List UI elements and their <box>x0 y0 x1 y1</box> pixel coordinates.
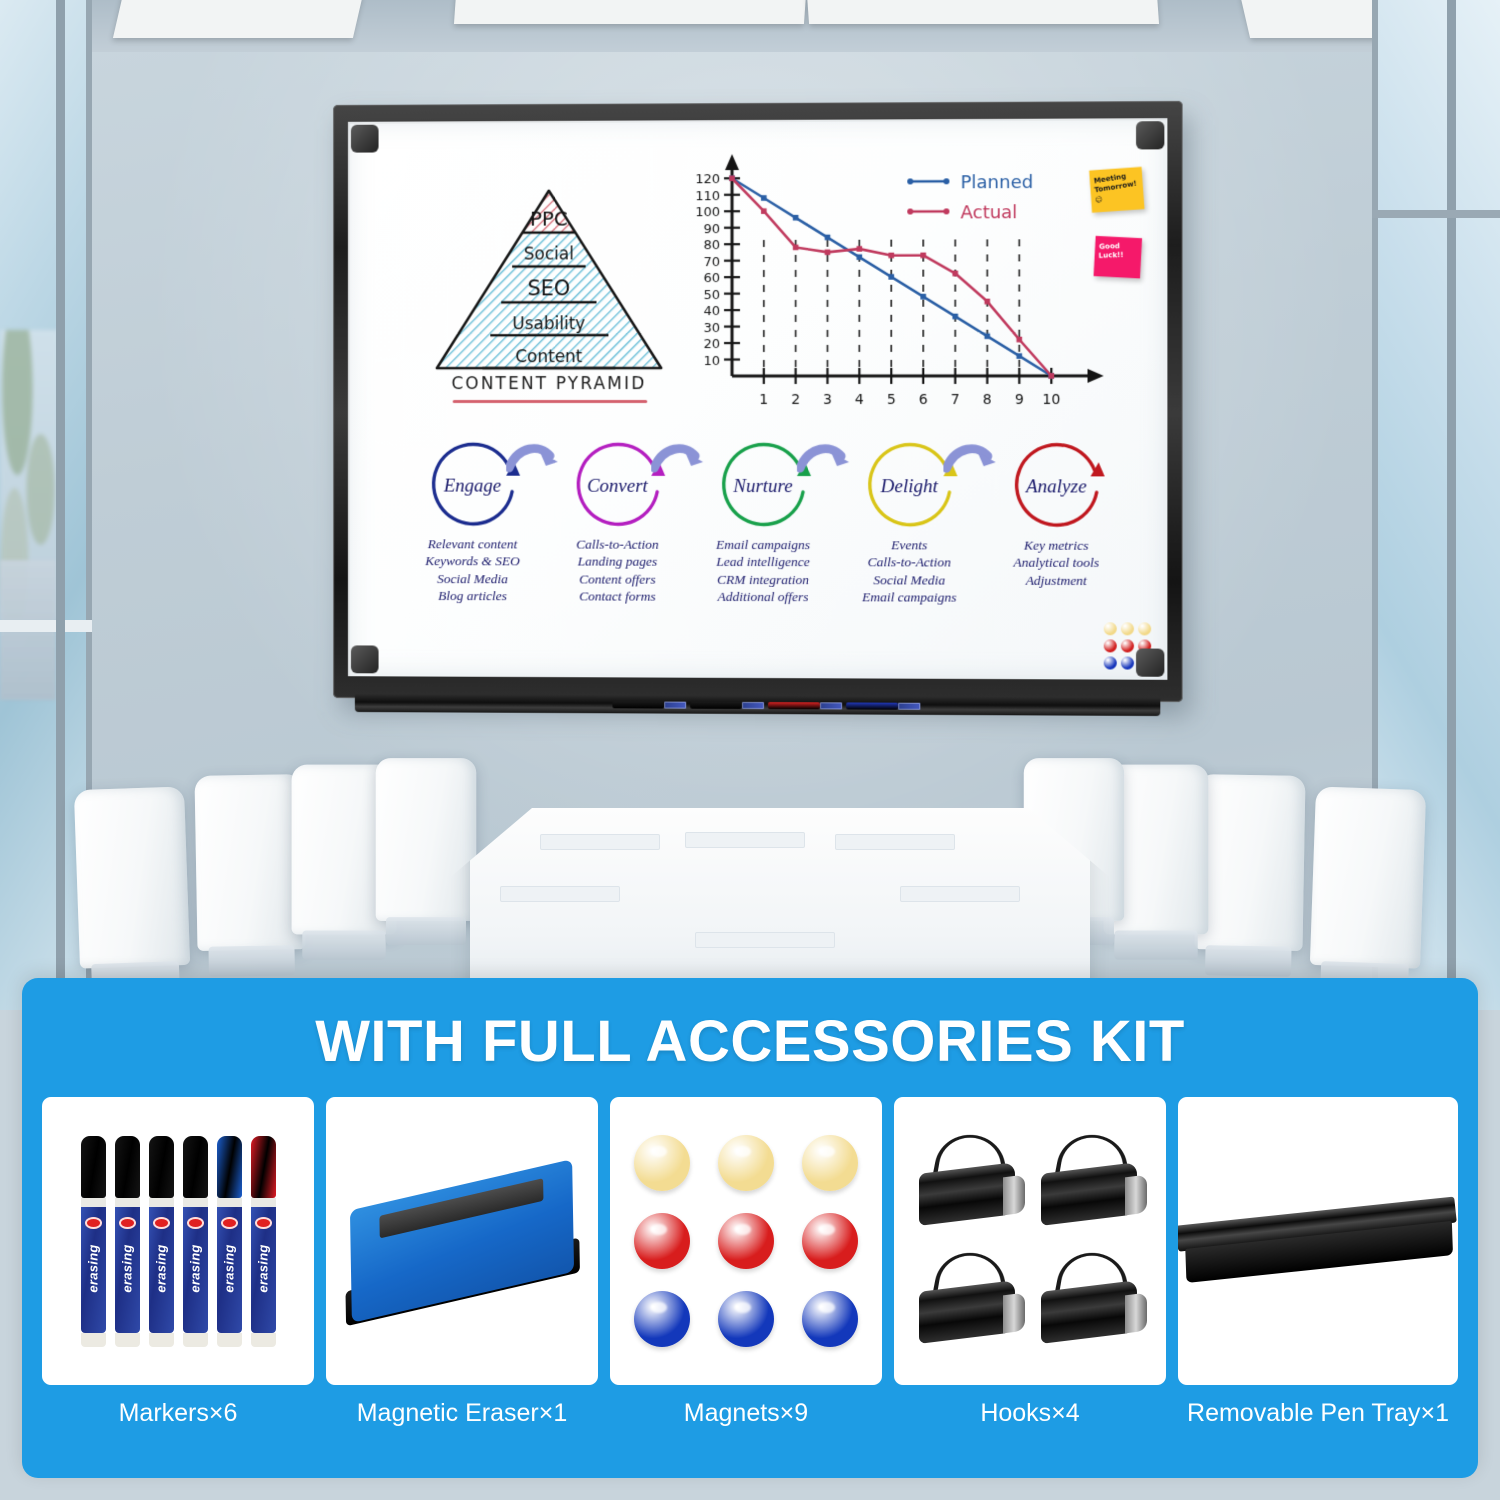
marker-body <box>217 1207 242 1333</box>
accessory-card-magnets[interactable]: Magnets×9 <box>610 1097 882 1428</box>
funnel-stage: AnalyzeKey metricsAnalytical toolsAdjust… <box>990 440 1123 589</box>
chart-x-tick-label: 8 <box>983 392 992 408</box>
chart-data-point <box>857 246 863 252</box>
whiteboard-surface[interactable]: PPC Social SEO Usability Content CONTENT… <box>348 118 1167 680</box>
funnel-stage-label: Convert <box>564 476 671 498</box>
chart-x-tick-label: 1 <box>759 392 768 408</box>
board-magnet[interactable] <box>1104 639 1117 652</box>
accessories-row: Markers×6 Magnetic Eraser×1 Magnets×9 <box>22 1075 1478 1428</box>
chart-data-point <box>857 254 863 260</box>
marker-collar <box>81 1198 106 1207</box>
pyramid-level-label: Content <box>515 346 582 366</box>
chart-x-tick-label: 10 <box>1042 392 1060 408</box>
marker <box>115 1136 140 1347</box>
window-mullion <box>1447 0 1456 1010</box>
marker-body <box>149 1207 174 1333</box>
accessory-card-hooks[interactable]: Hooks×4 <box>894 1097 1166 1428</box>
whiteboard-frame: PPC Social SEO Usability Content CONTENT… <box>333 101 1182 702</box>
board-magnet[interactable] <box>1121 622 1134 635</box>
sticky-note-goodluck[interactable]: Good Luck!! <box>1094 236 1143 278</box>
pen-tray-photo <box>1178 1097 1458 1385</box>
pyramid-level-label: SEO <box>527 276 570 300</box>
chart-data-point <box>729 176 735 182</box>
eraser-photo <box>326 1097 598 1385</box>
magnetic-eraser <box>350 1159 574 1323</box>
sticky-line-2: Luck!! <box>1099 251 1138 262</box>
hook-body <box>1041 1280 1137 1344</box>
chart-y-tick-label: 80 <box>704 238 720 253</box>
chart-data-point <box>984 333 990 339</box>
chart-legend-label: Actual <box>961 202 1018 223</box>
ceiling-panel <box>807 0 1159 24</box>
funnel-stage-label: Nurture <box>709 476 817 498</box>
hook <box>1039 1130 1143 1234</box>
funnel-stage-items: EventsCalls-to-ActionSocial MediaEmail c… <box>843 536 976 606</box>
marker-collar <box>251 1198 276 1207</box>
marker-cap <box>115 1136 140 1198</box>
hook-body <box>919 1280 1015 1344</box>
funnel-stage-label: Delight <box>855 476 963 498</box>
funnel-stage-item: Relevant content <box>407 535 538 552</box>
marketing-funnel-diagram: EngageRelevant contentKeywords & SEOSoci… <box>407 440 1137 652</box>
hook-lip <box>1003 1293 1025 1334</box>
chart-x-tick-label: 3 <box>823 392 832 408</box>
content-pyramid-diagram: PPC Social SEO Usability Content CONTENT… <box>425 180 673 440</box>
pyramid-underline <box>453 400 648 402</box>
ceiling-panel <box>454 0 806 24</box>
funnel-stage-items: Key metricsAnalytical toolsAdjustment <box>990 537 1123 589</box>
board-magnet[interactable] <box>1121 639 1134 652</box>
chart-x-tick-label: 5 <box>887 392 896 408</box>
magnets-photo <box>610 1097 882 1385</box>
funnel-stage-item: Content offers <box>552 570 683 588</box>
chart-y-tick-label: 40 <box>704 304 720 319</box>
chair <box>1310 786 1426 968</box>
marker-tail <box>183 1333 208 1347</box>
marker-tail <box>115 1333 140 1347</box>
magnet <box>802 1213 858 1269</box>
hook-lip <box>1125 1293 1147 1334</box>
marker-cap <box>149 1136 174 1198</box>
funnel-ring: Analyze <box>1002 440 1111 533</box>
frame-corner-cap <box>351 645 379 673</box>
marker-body <box>115 1207 140 1333</box>
board-magnet[interactable] <box>1104 622 1117 635</box>
tray-marker[interactable] <box>846 702 898 709</box>
chart-x-tick-label: 7 <box>951 392 960 408</box>
chart-data-point <box>1016 337 1022 343</box>
magnet <box>802 1291 858 1347</box>
tray-marker[interactable] <box>768 702 820 709</box>
marker-cap <box>81 1136 106 1198</box>
whiteboard[interactable]: PPC Social SEO Usability Content CONTENT… <box>333 101 1182 702</box>
marker-tail <box>251 1333 276 1347</box>
magnet <box>634 1291 690 1347</box>
pyramid-svg: PPC Social SEO Usability Content <box>425 180 673 380</box>
marker-body <box>81 1207 106 1333</box>
magnet <box>718 1291 774 1347</box>
marker-collar <box>183 1198 208 1207</box>
funnel-stage-items: Relevant contentKeywords & SEOSocial Med… <box>407 535 538 604</box>
hook <box>917 1248 1021 1352</box>
tray-marker[interactable] <box>690 701 742 708</box>
funnel-stage-item: Key metrics <box>990 537 1123 555</box>
chart-x-tick-label: 9 <box>1015 392 1024 408</box>
chart-data-point <box>920 294 926 300</box>
hook-group <box>917 1130 1143 1352</box>
eraser-magnet-strip <box>379 1178 543 1238</box>
marker <box>149 1136 174 1347</box>
chart-data-point <box>761 195 767 201</box>
funnel-stage-label: Engage <box>419 476 526 498</box>
chart-y-tick-label: 120 <box>695 172 720 187</box>
chart-y-tick-label: 20 <box>704 337 720 352</box>
chart-data-point <box>888 274 894 280</box>
pyramid-level-label: Social <box>524 243 574 263</box>
burndown-chart: 102030405060708090100110120 12345678910 … <box>690 147 1112 419</box>
accessory-label-eraser: Magnetic Eraser×1 <box>357 1399 568 1428</box>
board-magnet[interactable] <box>1121 656 1134 669</box>
accessory-label-magnets: Magnets×9 <box>684 1399 808 1428</box>
chart-y-tick-label: 10 <box>704 354 720 369</box>
accessory-card-pen-tray[interactable]: Removable Pen Tray×1 <box>1178 1097 1458 1428</box>
magnet <box>802 1135 858 1191</box>
sticky-note-meeting[interactable]: Meeting Tomorrow! ☺ <box>1089 167 1144 213</box>
pyramid-caption: CONTENT PYRAMID <box>425 374 673 394</box>
magnet <box>634 1135 690 1191</box>
magnet <box>718 1135 774 1191</box>
chart-data-point <box>793 245 799 251</box>
table-pad <box>540 834 660 850</box>
chart-data-point <box>825 249 831 255</box>
funnel-stage-item: Events <box>843 536 976 554</box>
marker-tail <box>81 1333 106 1347</box>
window-transom <box>1372 210 1500 218</box>
magnet <box>634 1213 690 1269</box>
frame-corner-cap <box>1136 648 1164 676</box>
accessories-banner: WITH FULL ACCESSORIES KIT Markers×6 Magn… <box>22 978 1478 1478</box>
ceiling-panel <box>113 0 363 38</box>
frame-corner-cap <box>351 125 379 153</box>
funnel-stage-items: Calls-to-ActionLanding pagesContent offe… <box>552 536 683 605</box>
chart-y-tick-label: 60 <box>704 271 720 286</box>
funnel-stage-item: CRM integration <box>697 570 829 588</box>
chart-y-tick-label: 90 <box>704 222 720 237</box>
chair <box>376 758 476 921</box>
hook-lip <box>1003 1175 1025 1216</box>
magnet <box>718 1213 774 1269</box>
accessory-label-markers: Markers×6 <box>119 1399 238 1428</box>
funnel-stage-item: Landing pages <box>552 553 683 571</box>
funnel-stage-item: Lead intelligence <box>697 553 829 571</box>
funnel-stage-item: Social Media <box>407 570 538 588</box>
chart-x-tick-label: 6 <box>919 392 928 408</box>
funnel-stage-item: Analytical tools <box>990 554 1123 572</box>
marker-group <box>81 1136 276 1347</box>
chart-x-tick-label: 2 <box>791 392 800 408</box>
funnel-stage-item: Email campaigns <box>843 588 976 606</box>
funnel-stage-item: Contact forms <box>552 587 683 605</box>
chart-data-point <box>984 299 990 305</box>
accessory-label-pen-tray: Removable Pen Tray×1 <box>1187 1399 1449 1428</box>
board-magnet[interactable] <box>1104 656 1117 669</box>
pyramid-level-label: PPC <box>530 208 568 231</box>
hook-body <box>1041 1162 1137 1226</box>
marker-collar <box>115 1198 140 1207</box>
chart-data-point <box>920 252 926 258</box>
removable-pen-tray <box>1178 1179 1458 1304</box>
funnel-stage-item: Keywords & SEO <box>407 552 538 570</box>
funnel-stage-label: Analyze <box>1002 476 1111 498</box>
chart-x-tick-label: 4 <box>855 392 864 408</box>
burndown-chart-svg: 102030405060708090100110120 12345678910 … <box>690 147 1112 419</box>
pyramid-level-label: Usability <box>512 313 585 333</box>
table-pad <box>500 886 620 902</box>
window-mullion <box>56 0 65 1010</box>
chair <box>74 786 190 968</box>
table-pad <box>835 834 955 850</box>
marker-tail <box>217 1333 242 1347</box>
marker-collar <box>217 1198 242 1207</box>
funnel-stage-item: Calls-to-Action <box>843 553 976 571</box>
hook-lip <box>1125 1175 1147 1216</box>
hook <box>917 1130 1021 1234</box>
frame-corner-cap <box>1136 121 1164 149</box>
chart-y-tick-label: 70 <box>704 255 720 270</box>
table-pad <box>900 886 1020 902</box>
markers-photo <box>42 1097 314 1385</box>
chair <box>194 774 305 951</box>
chart-y-tick-label: 100 <box>695 205 720 220</box>
chart-y-tick-label: 110 <box>695 189 720 204</box>
funnel-stage-item: Email campaigns <box>697 536 829 554</box>
marker-body <box>183 1207 208 1333</box>
chart-y-tick-label: 30 <box>704 321 720 336</box>
funnel-stage-items: Email campaignsLead intelligenceCRM inte… <box>697 536 829 605</box>
funnel-stage-item: Additional offers <box>697 588 829 606</box>
tray-marker[interactable] <box>612 701 664 708</box>
marker-cap <box>251 1136 276 1198</box>
marker-cap <box>183 1136 208 1198</box>
chart-legend-label: Planned <box>961 172 1034 193</box>
accessory-card-markers[interactable]: Markers×6 <box>42 1097 314 1428</box>
funnel-stage-item: Calls-to-Action <box>552 536 683 554</box>
marker-tail <box>149 1333 174 1347</box>
marker <box>217 1136 242 1347</box>
chart-data-point <box>825 235 831 241</box>
table-pad <box>695 932 835 948</box>
chart-data-point <box>952 271 958 277</box>
hooks-photo <box>894 1097 1166 1385</box>
chart-data-point <box>761 208 767 214</box>
chart-data-point <box>888 253 894 259</box>
window-sill <box>0 620 92 632</box>
marker-collar <box>149 1198 174 1207</box>
marker <box>81 1136 106 1347</box>
marker-cap <box>217 1136 242 1198</box>
marker-body <box>251 1207 276 1333</box>
marker <box>251 1136 276 1347</box>
chart-data-point <box>793 215 799 221</box>
magnet-group <box>634 1135 858 1347</box>
chair <box>1194 774 1305 951</box>
accessory-label-hooks: Hooks×4 <box>980 1399 1079 1428</box>
banner-title: WITH FULL ACCESSORIES KIT <box>22 978 1478 1075</box>
chart-y-tick-label: 50 <box>704 288 720 303</box>
funnel-stage-item: Adjustment <box>990 571 1123 589</box>
funnel-stage-item: Blog articles <box>407 587 538 605</box>
hook <box>1039 1248 1143 1352</box>
chart-data-point <box>952 314 958 320</box>
table-pad <box>685 832 805 848</box>
board-magnet[interactable] <box>1138 622 1151 635</box>
accessory-card-eraser[interactable]: Magnetic Eraser×1 <box>326 1097 598 1428</box>
chart-data-point <box>1016 353 1022 359</box>
hook-body <box>919 1162 1015 1226</box>
chart-data-point <box>1049 373 1055 379</box>
marker <box>183 1136 208 1347</box>
funnel-stage-item: Social Media <box>843 571 976 589</box>
